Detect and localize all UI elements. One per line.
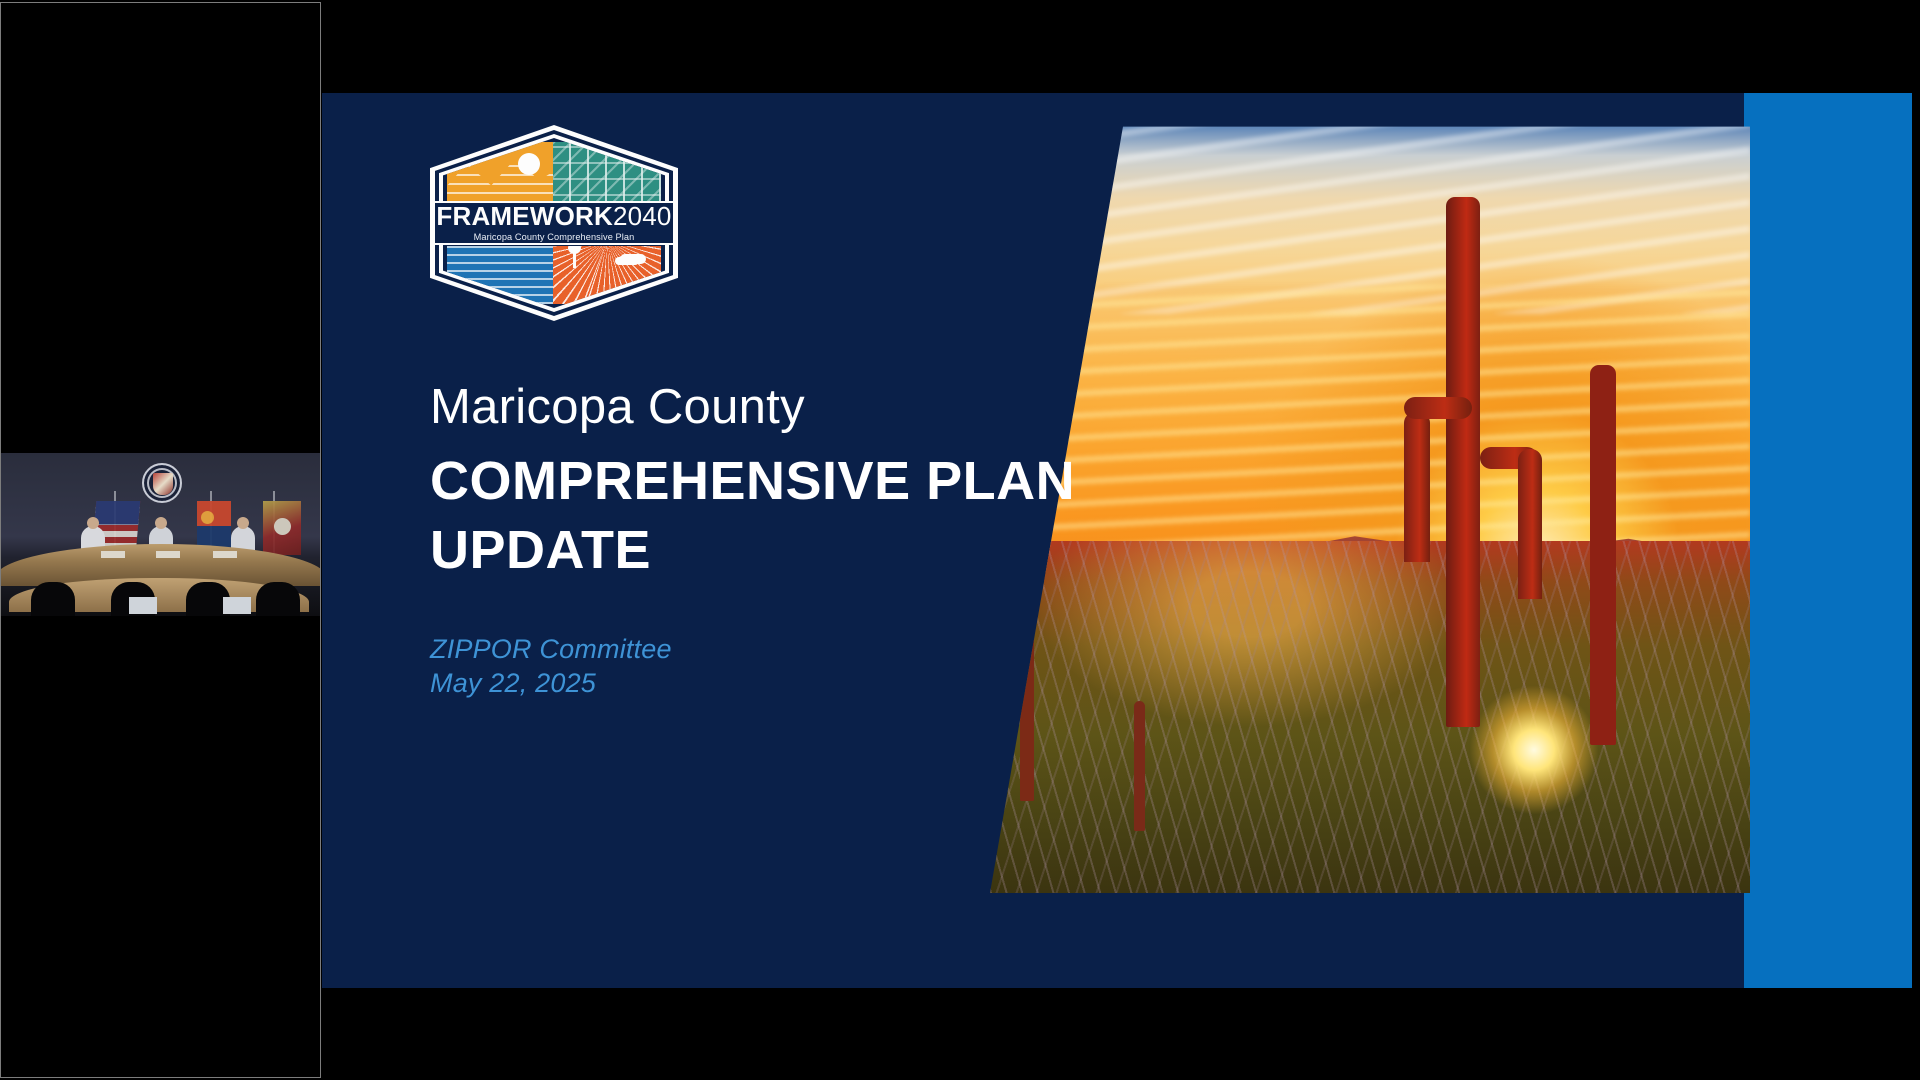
laptop-icon bbox=[129, 597, 157, 614]
slide-text-block: Maricopa County COMPREHENSIVE PLAN UPDAT… bbox=[430, 383, 1150, 701]
board-chamber-camera-view[interactable] bbox=[1, 453, 320, 628]
tree-icon bbox=[573, 251, 576, 268]
screen: FRAMEWORK2040 Maricopa County Comprehens… bbox=[0, 0, 1920, 1080]
video-letterbox-bottom bbox=[1, 628, 320, 1077]
slide-committee: ZIPPOR Committee bbox=[430, 632, 1150, 666]
saguaro-cactus-icon bbox=[1446, 197, 1480, 727]
slide-date: May 22, 2025 bbox=[430, 666, 1150, 700]
accent-bar-right bbox=[1744, 93, 1912, 988]
nameplate bbox=[156, 551, 180, 558]
laptop-icon bbox=[223, 597, 251, 614]
logo-wordmark: FRAMEWORK2040 bbox=[436, 203, 671, 229]
logo-wordmark-band: FRAMEWORK2040 Maricopa County Comprehens… bbox=[433, 201, 675, 245]
meeting-video-feed[interactable] bbox=[0, 2, 321, 1078]
county-flag-icon bbox=[263, 501, 301, 555]
slide-headline-line2: UPDATE bbox=[430, 516, 1150, 585]
saguaro-cactus-icon bbox=[1590, 365, 1616, 745]
maricopa-county-seal-icon bbox=[142, 463, 182, 503]
slide-headline: COMPREHENSIVE PLAN UPDATE bbox=[430, 447, 1150, 584]
video-letterbox-top bbox=[1, 3, 320, 453]
slide-meta: ZIPPOR Committee May 22, 2025 bbox=[430, 632, 1150, 701]
dais-person bbox=[231, 526, 255, 550]
slide-headline-line1: COMPREHENSIVE PLAN bbox=[430, 447, 1150, 516]
nameplate bbox=[213, 551, 237, 558]
slide-eyebrow: Maricopa County bbox=[430, 383, 1150, 433]
nameplate bbox=[101, 551, 125, 558]
sun-icon bbox=[518, 153, 540, 175]
logo-wordmark-year: 2040 bbox=[613, 201, 672, 231]
logo-tagline: Maricopa County Comprehensive Plan bbox=[474, 232, 635, 242]
chamber-foreground-shadow bbox=[1, 616, 320, 628]
saguaro-cactus-icon bbox=[1134, 701, 1145, 831]
framework-2040-logo: FRAMEWORK2040 Maricopa County Comprehens… bbox=[430, 125, 678, 321]
presentation-slide: FRAMEWORK2040 Maricopa County Comprehens… bbox=[322, 93, 1912, 988]
setting-sun-glow bbox=[1469, 685, 1599, 815]
logo-wordmark-text: FRAMEWORK bbox=[436, 201, 613, 231]
